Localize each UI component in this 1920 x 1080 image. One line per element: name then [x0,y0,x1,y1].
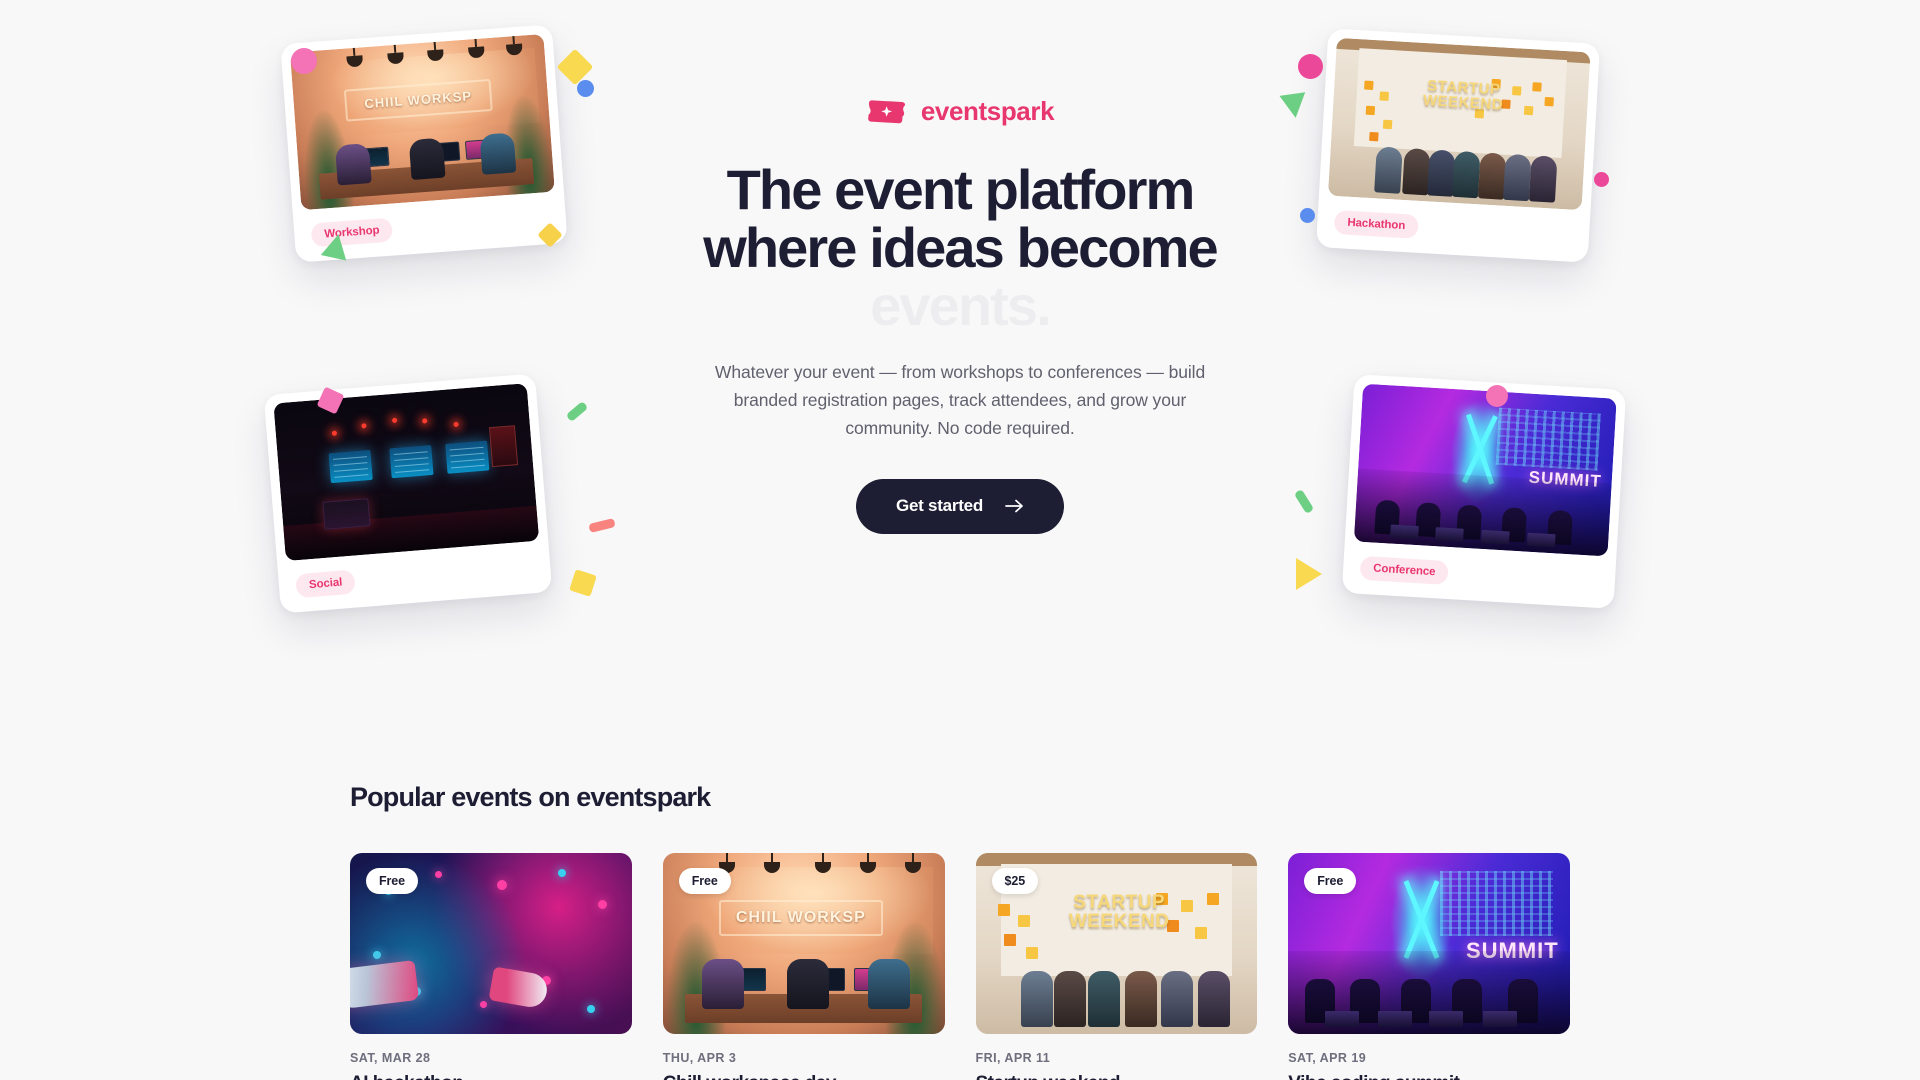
event-thumbnail: $25 STARTUPWEEKEND [976,853,1258,1034]
event-date: SAT, MAR 28 [350,1051,632,1065]
event-date: SAT, APR 19 [1288,1051,1570,1065]
event-card[interactable]: Free SUMMIT [1288,853,1570,1080]
hackathon-badge: Hackathon [1334,210,1419,239]
event-date: FRI, APR 11 [976,1051,1258,1065]
brand-logo[interactable]: eventspark [610,96,1310,127]
event-price-badge: $25 [992,868,1039,894]
event-price-badge: Free [1304,868,1356,894]
event-title: Startup weekend [976,1072,1258,1080]
hero-subheadline: Whatever your event — from workshops to … [704,358,1216,443]
event-thumbnail: Free SUMMIT [1288,853,1570,1034]
headline-line-1: The event platform [610,161,1310,219]
page-title: The event platform where ideas become ev… [610,161,1310,336]
hero-content: eventspark The event platform where idea… [610,96,1310,534]
decor-circle-blue [577,80,594,97]
decor-square-yellow [569,569,597,597]
event-card[interactable]: $25 STARTUPWEEKEND [976,853,1258,1080]
get-started-button[interactable]: Get started [856,479,1064,534]
popular-events-section: Popular events on eventspark Free [0,760,1920,1080]
event-title: Chill workspace day [663,1072,945,1080]
arrow-right-icon [1005,499,1024,513]
event-thumbnail: Free CHIIL WORKSP [663,853,945,1034]
headline-line-3: events. [610,277,1310,335]
brand-name: eventspark [921,96,1054,127]
hero-photo-card-conference[interactable]: SUMMIT Conference [1342,374,1627,609]
event-price-badge: Free [366,868,418,894]
social-thumbnail [273,383,539,561]
conference-thumbnail: SUMMIT [1354,384,1617,557]
decor-bar-green [566,401,589,422]
headline-line-2: where ideas become [610,219,1310,277]
event-date: THU, APR 3 [663,1051,945,1065]
event-title: AI hackathon [350,1072,632,1080]
workshop-thumbnail: CHIIL WORKSP [290,34,555,210]
decor-circle-pink-3 [1486,385,1508,407]
decor-circle-pink [291,48,317,74]
hackathon-thumbnail: STARTUPWEEKEND [1328,38,1591,210]
popular-events-title: Popular events on eventspark [350,782,1570,813]
event-card[interactable]: Free CHIIL WORKSP [663,853,945,1080]
decor-circle-magenta [1298,54,1323,79]
hero-photo-card-social[interactable]: Social [264,373,553,613]
popular-events-grid: Free [350,853,1570,1080]
event-price-badge: Free [679,868,731,894]
event-card[interactable]: Free [350,853,632,1080]
conference-badge: Conference [1360,556,1450,585]
decor-triangle-green [321,232,351,261]
get-started-label: Get started [896,496,983,516]
decor-triangle-yellow [1296,558,1322,590]
hero-section: CHIIL WORKSP Workshop [0,0,1920,760]
social-badge: Social [295,570,356,599]
hero-photo-card-workshop[interactable]: CHIIL WORKSP Workshop [280,24,567,262]
event-thumbnail: Free [350,853,632,1034]
decor-circle-magenta-2 [1594,172,1609,187]
hero-photo-card-hackathon[interactable]: STARTUPWEEKEND Hackathon [1316,28,1600,262]
ticket-sparkle-icon [866,99,908,125]
event-title: Vibe coding summit [1288,1072,1570,1080]
